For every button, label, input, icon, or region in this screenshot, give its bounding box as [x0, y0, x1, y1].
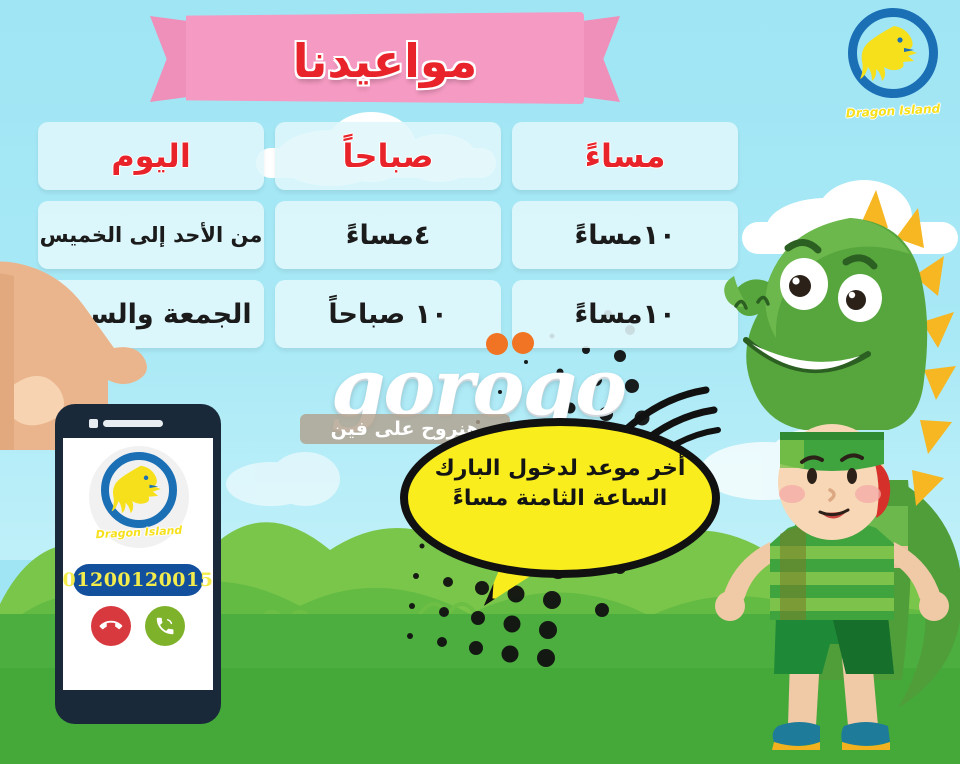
dragon-head-icon [864, 22, 922, 84]
header-label-morning: صباحاً [342, 137, 433, 175]
cell-text: ٤مساءً [346, 220, 431, 251]
header-label-evening: مساءً [585, 137, 666, 175]
phone-screen: Dragon Island 01200120015 [63, 438, 213, 690]
cell-text: ١٠مساءً [574, 220, 675, 251]
banner-ribbon: مواعيدنا [150, 8, 620, 113]
cell-morning-row1: ٤مساءً [275, 201, 501, 269]
logo-label: Dragon Island [838, 101, 949, 121]
phone-decline-button[interactable] [91, 606, 131, 646]
bubble-text-line2: الساعة الثامنة مساءً [418, 484, 702, 514]
header-cell-morning: صباحاً [275, 122, 501, 190]
cell-text: ١٠ صباحاً [328, 299, 447, 330]
boy-character [718, 430, 948, 760]
phone-decline-icon [100, 615, 122, 637]
notice-speech-bubble: أخر موعد لدخول البارك الساعة الثامنة مسا… [400, 418, 720, 598]
watermark-dot-right [512, 332, 534, 354]
watermark-dot-left [486, 333, 508, 355]
call-button-group [91, 606, 185, 646]
phone-answer-button[interactable] [145, 606, 185, 646]
phone-speaker-icon [103, 420, 163, 427]
poster-canvas: مواعيدنا Dragon Island اليوم صباحاً مساء… [0, 0, 960, 764]
phone-number-pill: 01200120015 [73, 564, 203, 596]
phone-number-text: 01200120015 [63, 569, 214, 591]
phone-camera-icon [89, 419, 98, 428]
dragon-island-logo: Dragon Island [838, 6, 948, 118]
phone-dragon-head-icon [115, 462, 165, 516]
phone-answer-icon [154, 615, 176, 637]
cell-text: ١٠مساءً [574, 299, 675, 330]
bubble-text-line1: أخر موعد لدخول البارك [418, 454, 702, 484]
phone-mockup: Dragon Island 01200120015 [55, 404, 221, 734]
banner-title: مواعيدنا [150, 8, 620, 113]
bubble-text: أخر موعد لدخول البارك الساعة الثامنة مسا… [418, 454, 702, 515]
